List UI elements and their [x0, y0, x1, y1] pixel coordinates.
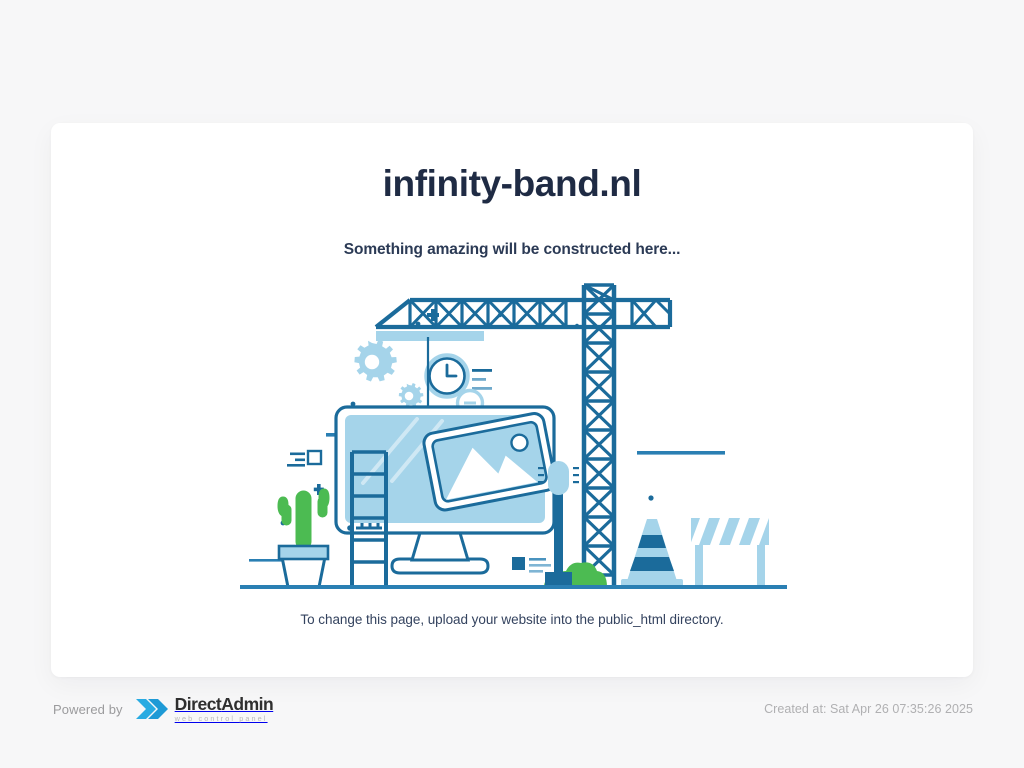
page-footer: Powered by DirectAdmin web control panel…	[0, 690, 1024, 730]
directadmin-wordmark: DirectAdmin web control panel	[175, 696, 274, 723]
road-barrier-icon	[690, 518, 769, 587]
under-construction-page: infinity-band.nl Something amazing will …	[0, 0, 1024, 768]
content-card: infinity-band.nl Something amazing will …	[51, 123, 973, 677]
powered-by-block: Powered by DirectAdmin web control panel	[53, 690, 273, 728]
created-at-text: Created at: Sat Apr 26 07:35:26 2025	[764, 690, 973, 728]
page-title: infinity-band.nl	[383, 165, 642, 202]
upload-hint-text: To change this page, upload your website…	[300, 612, 723, 627]
traffic-cone-icon	[621, 519, 683, 588]
crane-counterweight	[376, 331, 484, 341]
list-icon	[287, 451, 321, 467]
directadmin-chevron-icon	[135, 696, 169, 722]
document-icon	[512, 557, 551, 573]
directadmin-name: DirectAdmin	[175, 696, 274, 714]
ground-line	[240, 585, 787, 589]
directadmin-logo-link[interactable]: DirectAdmin web control panel	[135, 696, 274, 723]
construction-illustration	[232, 269, 792, 599]
tagline-text: Something amazing will be constructed he…	[344, 241, 681, 259]
directadmin-name-part2: Admin	[221, 694, 273, 714]
cactus-plant	[278, 489, 329, 587]
construction-illustration-svg	[232, 269, 792, 599]
gears-icon	[354, 340, 423, 408]
clock-icon	[427, 356, 492, 396]
powered-by-label: Powered by	[53, 702, 123, 717]
directadmin-name-part1: Direct	[175, 694, 222, 714]
directadmin-subtitle: web control panel	[175, 715, 274, 722]
